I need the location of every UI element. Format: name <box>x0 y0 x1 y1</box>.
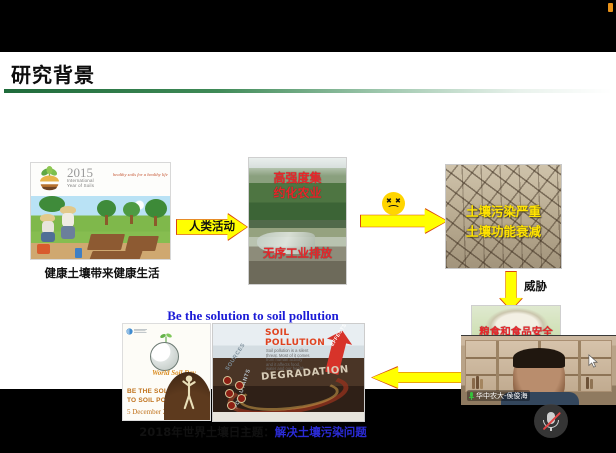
label-intensive-agriculture: 高强度集约化农业 <box>250 171 345 201</box>
participant-name-badge: 华中农大-侯俊海 <box>467 390 530 401</box>
fao-logo-icon <box>126 327 148 336</box>
caption-theme-topic: 解决土壤污染问题 <box>275 425 367 439</box>
video-participant-tile[interactable]: 华中农大-侯俊海 <box>461 335 616 405</box>
recording-indicator <box>608 3 613 12</box>
illustration-person-figure <box>182 374 196 410</box>
image-world-soil-day-poster: World Soil Day BE THE SOLUTIONTO SOIL PO… <box>122 323 211 421</box>
year-of-soils-logo-icon <box>36 166 63 193</box>
sad-face-icon: ✖ ✖ <box>382 192 405 215</box>
participant-name: 华中农大-侯俊海 <box>476 391 528 401</box>
poster-org-line: InternationalYear of Soils <box>67 178 94 189</box>
label-industrial-discharge: 无序工业排放 <box>248 245 347 261</box>
image-soil-pollution-infographic: SOILPOLLUTION Soil pollution is a silent… <box>212 323 365 422</box>
infographic-footer-logos <box>213 412 364 421</box>
globe-icon <box>150 342 179 371</box>
sad-face-eye-right: ✖ <box>395 198 401 205</box>
infographic-title: SOILPOLLUTION <box>265 329 325 348</box>
arrow-label-human-activity: 人类活动 <box>182 218 242 234</box>
image-year-of-soils-2015: 2015 InternationalYear of Soils healthy … <box>30 162 171 260</box>
infographic-pollutant-icons <box>223 376 251 410</box>
participant-hair <box>513 348 565 368</box>
mute-microphone-button[interactable] <box>534 404 568 438</box>
sad-face-eye-left: ✖ <box>386 198 392 205</box>
arrow-back-to-solution <box>372 367 473 388</box>
infographic-label-sources: SOURCES <box>225 342 247 372</box>
label-soil-pollution-severe: 土壤污染严重土壤功能衰减 <box>445 202 562 242</box>
caption-healthy-soil: 健康土壤带来健康生活 <box>24 265 180 281</box>
poster-tagline: healthy soils for a healthy life <box>113 172 168 177</box>
heading-be-the-solution: Be the solution to soil pollution <box>118 308 388 324</box>
illustration-garden-scene <box>31 196 170 260</box>
arrow-to-pollution <box>361 209 447 233</box>
microphone-icon <box>469 392 474 400</box>
page-title: 研究背景 <box>11 59 95 88</box>
caption-world-soil-day-theme: 2018年世界土壤日主题：解决土壤污染问题 <box>108 424 398 440</box>
arrow-label-threat: 威胁 <box>524 278 547 294</box>
sad-face-mouth <box>387 205 400 212</box>
screen-capture-root: 研究背景 2015 InternationalYear of Soils hea… <box>0 0 616 453</box>
caption-theme-prefix: 2018年世界土壤日主题： <box>139 425 275 439</box>
title-underline-rule <box>4 89 612 93</box>
mouse-cursor-icon <box>588 354 598 368</box>
